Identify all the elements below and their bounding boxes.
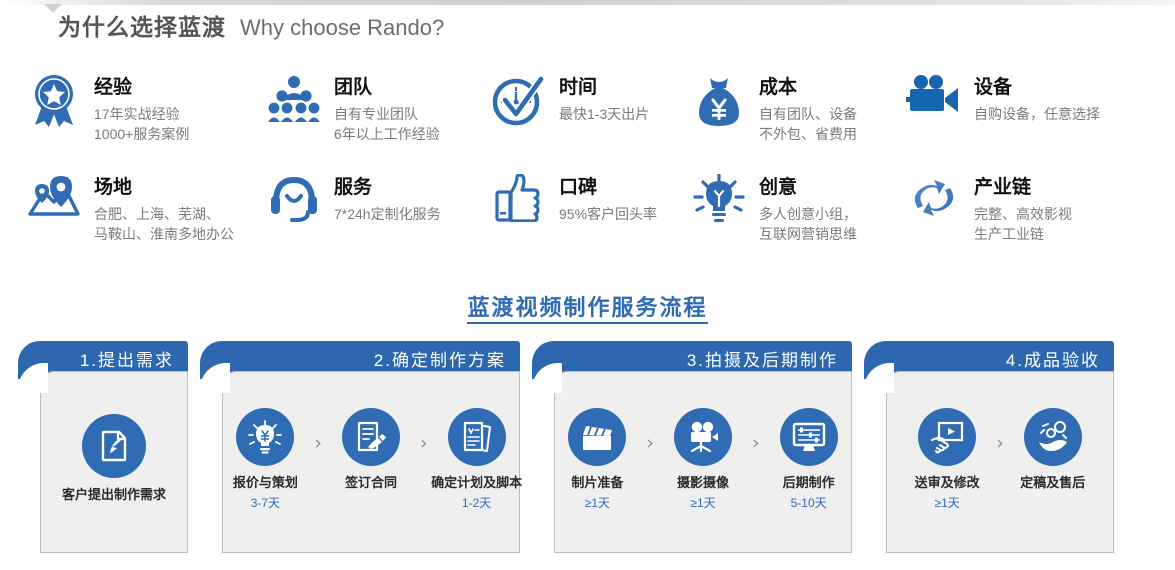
feature-item-equipment: 设备 自购设备，任意选择 [906, 70, 1136, 124]
feature-desc: 95%客户回头率 [559, 204, 657, 224]
feature-title: 口碑 [559, 176, 657, 200]
feature-text: 场地 合肥、上海、芜湖、 马鞍山、淮南多地办公 [94, 170, 234, 244]
step-list: 报价与策划 3-7天 › [231, 408, 511, 512]
step-list: 客户提出制作需求 [49, 414, 179, 507]
handshake-screen-icon [918, 408, 976, 466]
film-camera-icon [674, 408, 732, 466]
step-label: 签订合同 [345, 475, 397, 492]
feature-item-experience: 经验 17年实战经验 1000+服务案例 [26, 70, 266, 144]
step-label: 客户提出制作需求 [62, 487, 166, 504]
process-step: 客户提出制作需求 [62, 414, 166, 507]
process-step: 确定计划及脚本 1-2天 [434, 408, 520, 512]
step-label: 送审及修改 [915, 475, 980, 492]
step-label: 后期制作 [783, 475, 835, 492]
feature-text: 团队 自有专业团队 6年以上工作经验 [334, 70, 440, 144]
feature-item-time: 时间 最快1-3天出片 [491, 70, 691, 128]
feature-desc: 自有专业团队 6年以上工作经验 [334, 104, 440, 145]
feature-item-venue: 场地 合肥、上海、芜湖、 马鞍山、淮南多地办公 [26, 170, 266, 244]
team-people-icon [266, 70, 322, 124]
process-section-title-text: 蓝渡视频制作服务流程 [467, 295, 707, 324]
feature-desc: 自有团队、设备 不外包、省费用 [759, 104, 857, 145]
process-panel-2: 2.确定制作方案 [200, 341, 520, 553]
step-days: 5-10天 [791, 495, 827, 512]
medal-star-icon [26, 70, 82, 128]
feature-text: 服务 7*24h定制化服务 [334, 170, 441, 224]
step-label: 定稿及售后 [1020, 475, 1085, 492]
step-list: 制片准备 ≥1天 › [563, 408, 843, 512]
feature-title: 场地 [94, 176, 234, 200]
feature-grid: 经验 17年实战经验 1000+服务案例 [26, 70, 1161, 265]
process-panel-1: 1.提出需求 客户提出制作需求 [18, 341, 188, 553]
panel-title: 4.成品验收 [1006, 352, 1100, 369]
feature-item-reputation: 口碑 95%客户回头率 [491, 170, 691, 224]
process-step: 摄影摄像 ≥1天 [660, 408, 746, 512]
feature-desc: 多人创意小组， 互联网营销思维 [759, 204, 857, 245]
map-pin-icon [26, 170, 82, 222]
process-step: 报价与策划 3-7天 [222, 408, 308, 512]
section-heading: 为什么选择蓝渡 Why choose Rando? [58, 8, 444, 42]
step-label: 制片准备 [571, 475, 623, 492]
chevron-right-icon: › [994, 434, 1006, 453]
process-step: 定稿及售后 [1010, 408, 1096, 495]
hand-coins-icon [1024, 408, 1082, 466]
process-section-title: 蓝渡视频制作服务流程 [0, 290, 1175, 322]
feature-row-2: 场地 合肥、上海、芜湖、 马鞍山、淮南多地办公 服务 7*24h [26, 170, 1161, 265]
process-panel-4: 4.成品验收 送审及修改 [864, 341, 1114, 553]
feature-text: 设备 自购设备，任意选择 [974, 70, 1100, 124]
feature-desc: 7*24h定制化服务 [334, 204, 441, 224]
step-label: 确定计划及脚本 [431, 475, 522, 492]
headset-icon [266, 170, 322, 224]
money-bag-icon [691, 70, 747, 128]
script-pages-icon [448, 408, 506, 466]
process-step: 签订合同 [328, 408, 414, 495]
panel-body: 送审及修改 ≥1天 › [886, 371, 1114, 553]
feature-title: 产业链 [974, 176, 1072, 200]
top-decorative-band [0, 0, 1175, 5]
feature-title: 设备 [974, 76, 1100, 100]
feature-title: 团队 [334, 76, 440, 100]
chevron-right-icon: › [418, 434, 430, 453]
feature-desc: 最快1-3天出片 [559, 104, 649, 124]
feature-text: 口碑 95%客户回头率 [559, 170, 657, 224]
feature-item-cost: 成本 自有团队、设备 不外包、省费用 [691, 70, 906, 144]
step-label: 报价与策划 [233, 475, 298, 492]
section-heading-en: Why choose Rando? [240, 15, 444, 41]
thumbs-up-icon [491, 170, 547, 222]
step-list: 送审及修改 ≥1天 › [895, 408, 1105, 512]
recycle-arrows-icon [906, 170, 962, 222]
feature-text: 创意 多人创意小组， 互联网营销思维 [759, 170, 857, 244]
panel-title: 1.提出需求 [80, 352, 174, 369]
feature-title: 成本 [759, 76, 857, 100]
step-label: 摄影摄像 [677, 475, 729, 492]
feature-text: 产业链 完整、高效影视 生产工业链 [974, 170, 1072, 244]
panel-body: 制片准备 ≥1天 › [554, 371, 852, 553]
document-pen-icon [82, 414, 146, 478]
feature-item-creativity: 创意 多人创意小组， 互联网营销思维 [691, 170, 906, 244]
process-step: 后期制作 5-10天 [766, 408, 852, 512]
page-root: 为什么选择蓝渡 Why choose Rando? 经验 17年实战经验 1 [0, 0, 1175, 570]
feature-desc: 17年实战经验 1000+服务案例 [94, 104, 189, 145]
feature-title: 创意 [759, 176, 857, 200]
feature-item-service: 服务 7*24h定制化服务 [266, 170, 491, 224]
feature-item-team: 团队 自有专业团队 6年以上工作经验 [266, 70, 491, 144]
feature-desc: 完整、高效影视 生产工业链 [974, 204, 1072, 245]
feature-row-1: 经验 17年实战经验 1000+服务案例 [26, 70, 1161, 170]
process-step: 制片准备 ≥1天 [554, 408, 640, 512]
monitor-edit-icon [780, 408, 838, 466]
feature-title: 服务 [334, 176, 441, 200]
panel-body: 报价与策划 3-7天 › [222, 371, 520, 553]
chevron-right-icon: › [644, 434, 656, 453]
clock-check-icon [491, 70, 547, 128]
lightbulb-icon [691, 170, 747, 224]
feature-text: 成本 自有团队、设备 不外包、省费用 [759, 70, 857, 144]
feature-desc: 合肥、上海、芜湖、 马鞍山、淮南多地办公 [94, 204, 234, 245]
feature-title: 经验 [94, 76, 189, 100]
contract-sign-icon [342, 408, 400, 466]
step-days: 3-7天 [251, 495, 280, 512]
process-panel-3: 3.拍摄及后期制作 [532, 341, 852, 553]
step-days: ≥1天 [690, 495, 715, 512]
feature-item-industry-chain: 产业链 完整、高效影视 生产工业链 [906, 170, 1136, 244]
feature-desc: 自购设备，任意选择 [974, 104, 1100, 124]
step-days: 1-2天 [462, 495, 491, 512]
process-step: 送审及修改 ≥1天 [904, 408, 990, 512]
feature-text: 经验 17年实战经验 1000+服务案例 [94, 70, 189, 144]
idea-money-icon [236, 408, 294, 466]
feature-text: 时间 最快1-3天出片 [559, 70, 649, 124]
section-heading-cn: 为什么选择蓝渡 [58, 8, 226, 42]
panel-title: 2.确定制作方案 [374, 352, 506, 369]
step-days: ≥1天 [585, 495, 610, 512]
video-camera-icon [906, 70, 962, 116]
chevron-right-icon: › [750, 434, 762, 453]
step-days: ≥1天 [935, 495, 960, 512]
feature-title: 时间 [559, 76, 649, 100]
panel-title: 3.拍摄及后期制作 [687, 352, 838, 369]
clapperboard-icon [568, 408, 626, 466]
process-panels: 1.提出需求 客户提出制作需求 [18, 341, 1158, 553]
panel-body: 客户提出制作需求 [40, 371, 188, 553]
chevron-right-icon: › [312, 434, 324, 453]
